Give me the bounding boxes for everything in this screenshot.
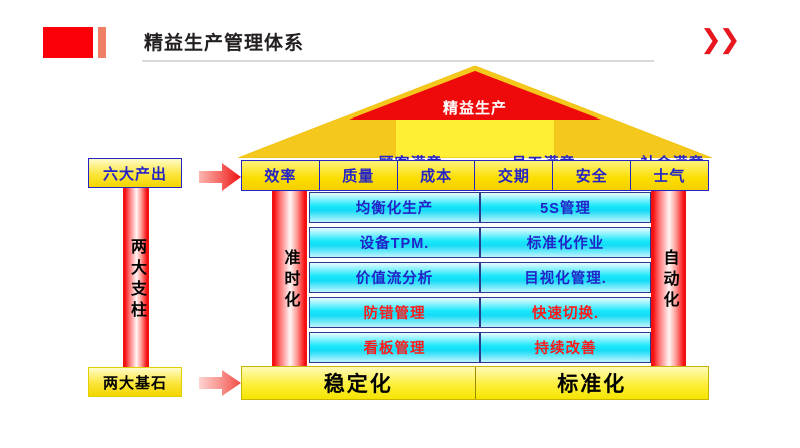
arrow-right-icon-bottom <box>199 369 241 397</box>
arrow-right-icon-top <box>199 162 241 192</box>
roof-group: 精益生产 顾客满意 员工满意 社会满意 <box>238 66 712 158</box>
practices-grid: 均衡化生产 5S管理 设备TPM. 标准化作业 价值流分析 目视化管理. 防错管… <box>309 192 651 363</box>
output-cell: 质量 <box>320 161 398 190</box>
practice-row: 防错管理 快速切换. <box>309 297 651 328</box>
practice-row: 均衡化生产 5S管理 <box>309 192 651 223</box>
pillar-jit: 准时化 <box>272 191 307 369</box>
practice-cell: 标准化作业 <box>480 227 651 258</box>
outer-pillar-left: 两大支柱 <box>123 188 149 372</box>
practice-cell: 目视化管理. <box>480 262 651 293</box>
output-cell: 安全 <box>553 161 631 190</box>
tag-two-foundations: 两大基石 <box>88 367 182 397</box>
outer-pillar-label: 两大支柱 <box>124 238 148 322</box>
title-divider <box>142 60 654 62</box>
practice-cell: 防错管理 <box>309 297 480 328</box>
output-cell: 士气 <box>631 161 708 190</box>
practice-row: 价值流分析 目视化管理. <box>309 262 651 293</box>
outputs-row: 效率 质量 成本 交期 安全 士气 <box>241 160 709 191</box>
output-cell: 效率 <box>242 161 320 190</box>
accent-bar <box>98 27 106 58</box>
practice-cell: 看板管理 <box>309 332 480 363</box>
foundation-cell: 稳定化 <box>242 367 476 399</box>
pillar-automation-label: 自动化 <box>657 249 681 312</box>
roof-apex-label: 精益生产 <box>238 97 712 118</box>
chevron-double-right-icon: ❯❯ <box>700 26 738 52</box>
practice-cell: 持续改善 <box>480 332 651 363</box>
practice-row: 看板管理 持续改善 <box>309 332 651 363</box>
pillar-jit-label: 准时化 <box>278 249 302 312</box>
practice-cell: 价值流分析 <box>309 262 480 293</box>
practice-cell: 5S管理 <box>480 192 651 223</box>
output-cell: 成本 <box>398 161 476 190</box>
practice-cell: 均衡化生产 <box>309 192 480 223</box>
tag-six-outputs: 六大产出 <box>88 158 182 188</box>
foundation-row: 稳定化 标准化 <box>241 366 709 400</box>
pillar-automation: 自动化 <box>651 191 686 369</box>
practice-row: 设备TPM. 标准化作业 <box>309 227 651 258</box>
slide-canvas: 精益生产管理体系 ❯❯ 精益生产 顾客满意 员工满意 社会满意 效率 质量 成本… <box>0 0 800 448</box>
page-title: 精益生产管理体系 <box>144 28 304 55</box>
practice-cell: 设备TPM. <box>309 227 480 258</box>
practice-cell: 快速切换. <box>480 297 651 328</box>
output-cell: 交期 <box>475 161 553 190</box>
foundation-cell: 标准化 <box>476 367 709 399</box>
red-square-logo <box>43 27 93 58</box>
